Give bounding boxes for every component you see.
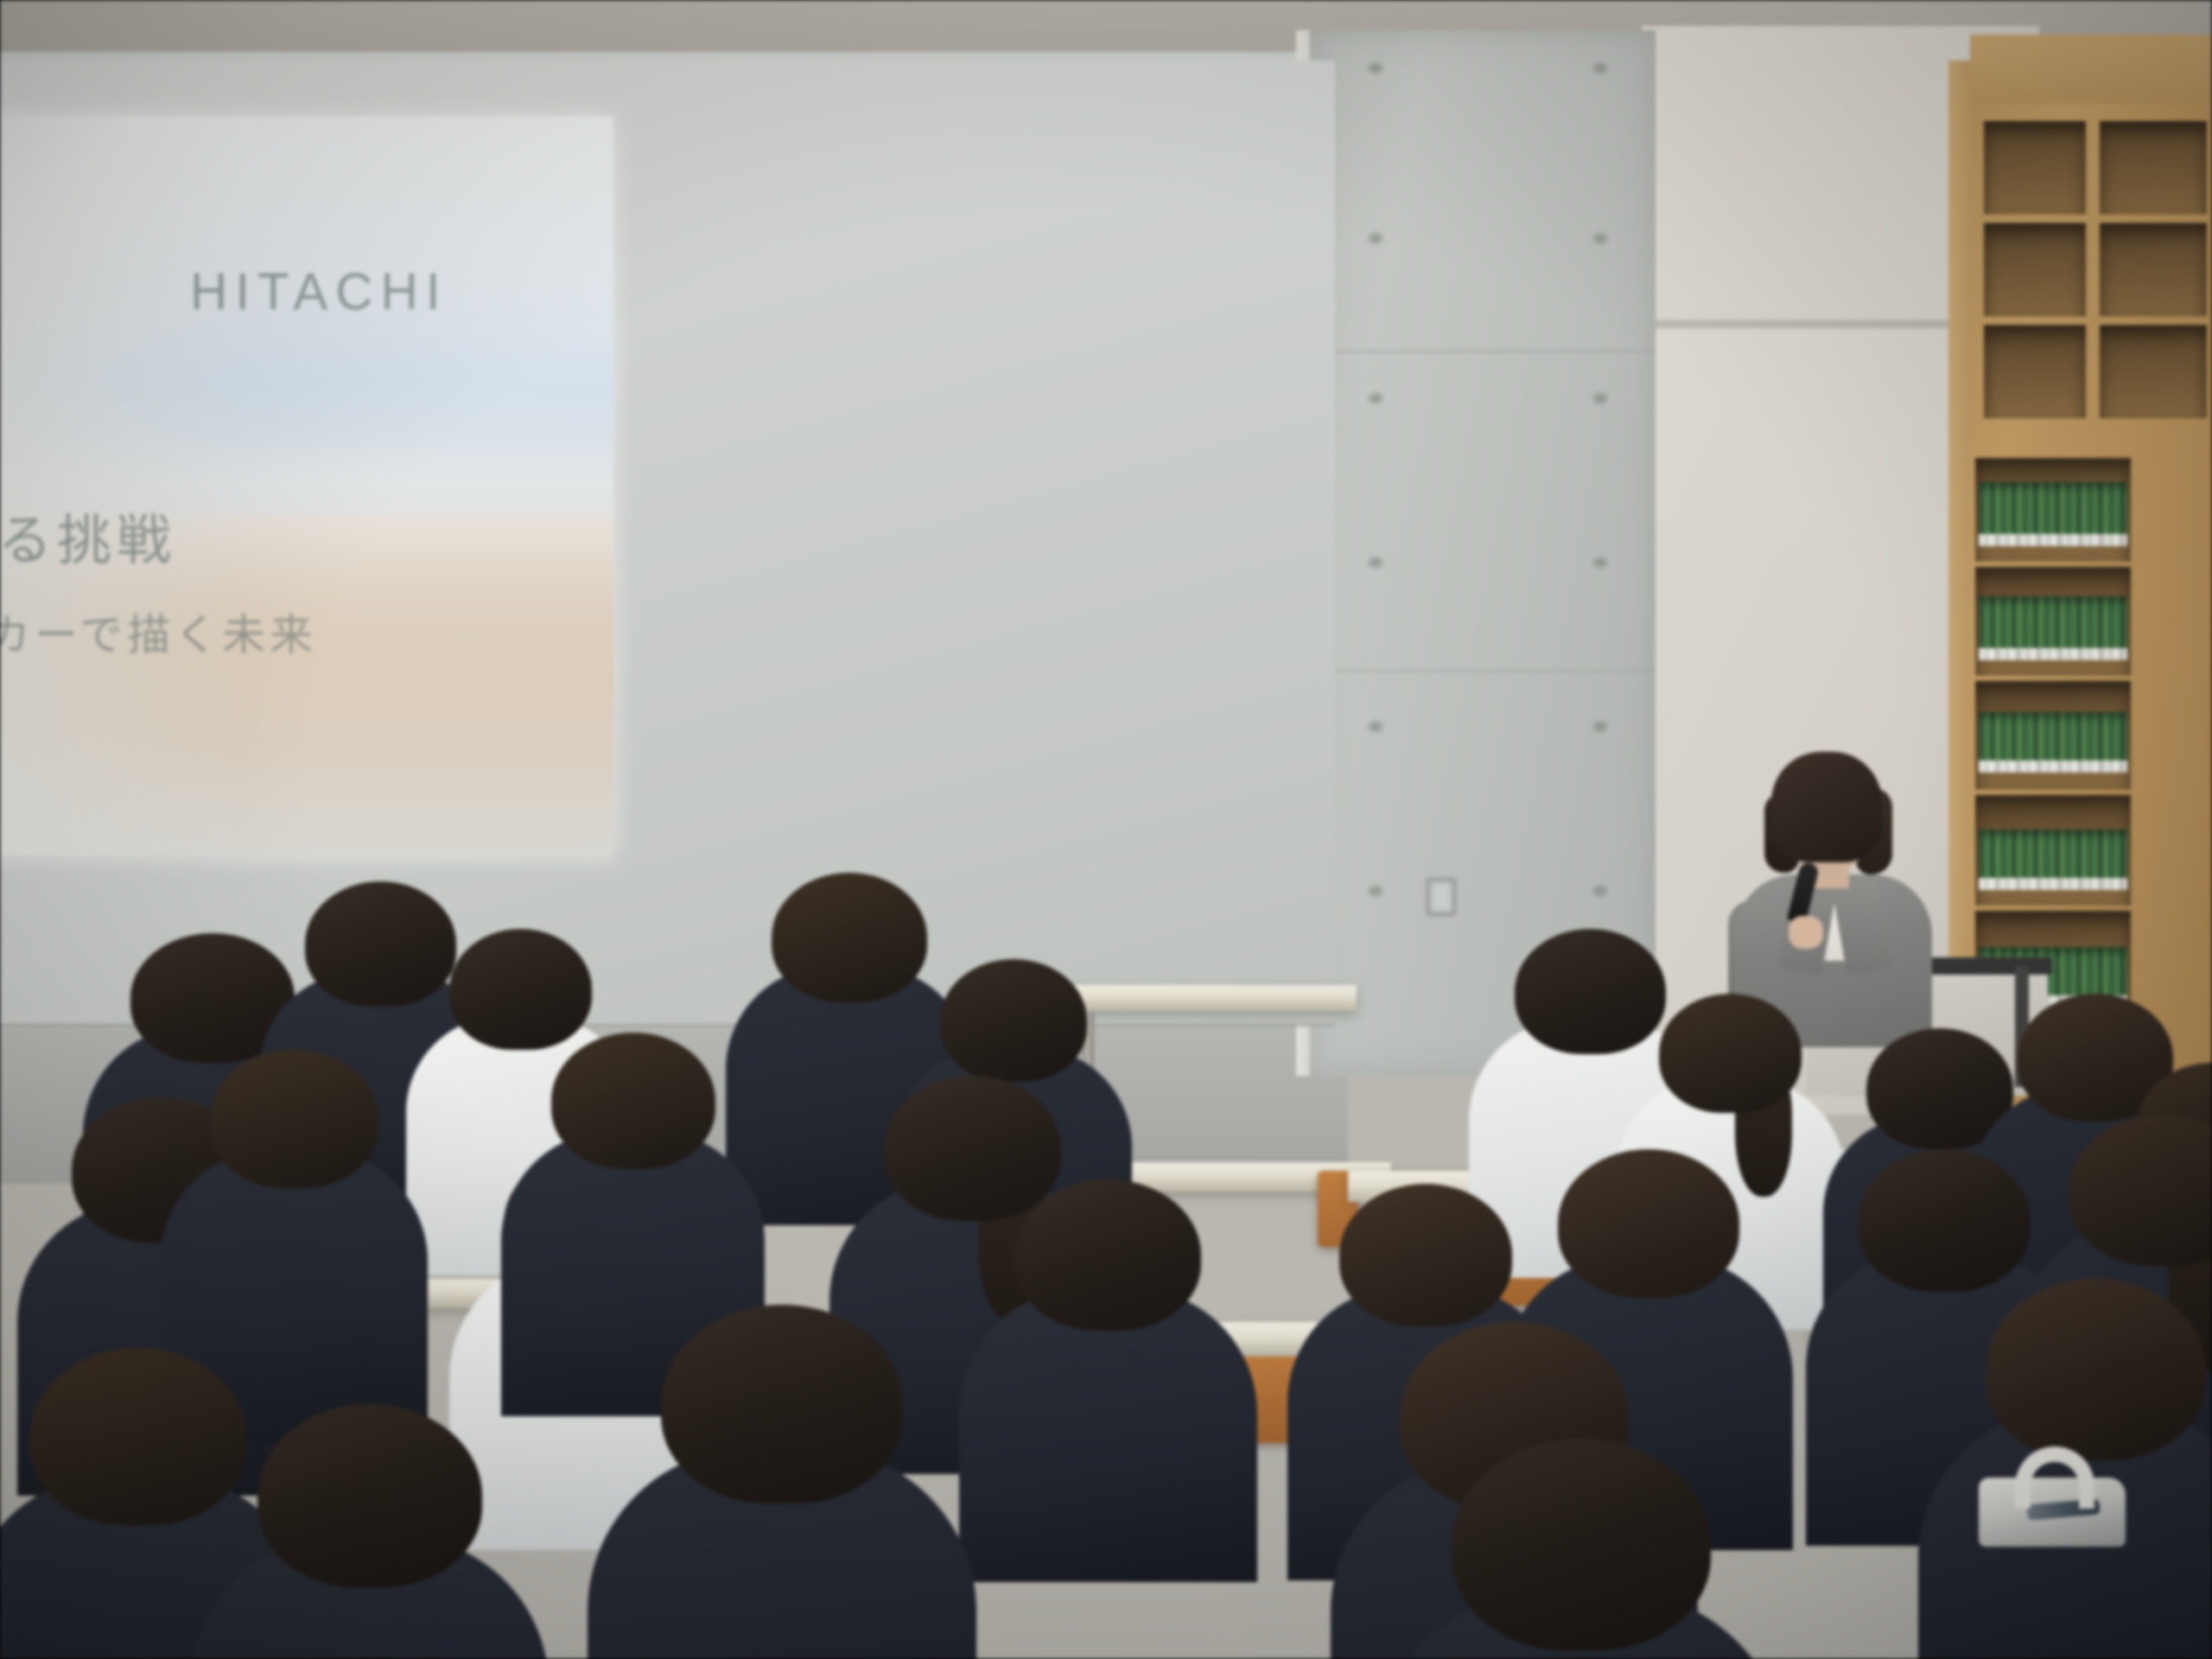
- bag-handle: [2015, 1446, 2094, 1509]
- audience-member: [588, 1305, 976, 1659]
- audience-member: [1374, 1439, 1789, 1659]
- audience-torso: [959, 1288, 1257, 1582]
- audience-head: [661, 1305, 903, 1503]
- audience-head: [1986, 1279, 2206, 1460]
- audience-head: [1858, 1149, 2031, 1292]
- audience-head: [210, 1050, 378, 1188]
- audience-head: [449, 929, 592, 1050]
- audience-head: [1659, 994, 1802, 1113]
- audience-head: [257, 1404, 482, 1587]
- audience-head: [940, 959, 1087, 1082]
- desk-bag[interactable]: [1979, 1445, 2134, 1548]
- audience-head: [1452, 1439, 1711, 1650]
- audience-head: [551, 1033, 715, 1169]
- audience-member: [190, 1404, 549, 1659]
- audience-head: [2069, 1115, 2212, 1266]
- classroom-photo: HITACHI える挑戦 ーカーで描く未来 © Hitachi, Ltd. 20…: [0, 0, 2212, 1659]
- audience-head: [1558, 1149, 1739, 1298]
- audience-member: [959, 1179, 1257, 1624]
- audience-head: [1339, 1184, 1512, 1326]
- audience: [0, 0, 2212, 1659]
- audience-head: [1015, 1179, 1201, 1331]
